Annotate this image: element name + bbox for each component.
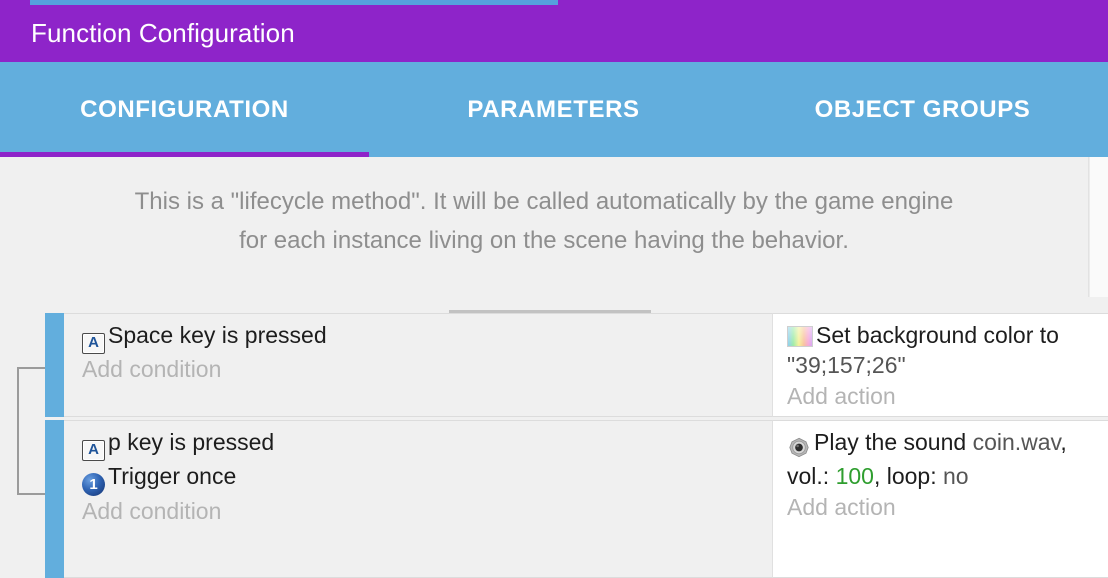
description-scrollbar-gutter[interactable] — [1089, 157, 1108, 297]
action-value-color[interactable]: "39;157;26" — [787, 352, 906, 378]
condition-key: Space — [108, 322, 173, 348]
events-sheet: ASpace key is pressed Add condition Set … — [0, 297, 1108, 578]
add-condition-button[interactable]: Add condition — [82, 354, 772, 386]
function-configuration-dialog: Function Configuration CONFIGURATION PAR… — [0, 0, 1108, 578]
keyboard-key-icon: A — [82, 440, 105, 461]
color-swatch-icon — [787, 326, 813, 347]
lifecycle-description: This is a "lifecycle method". It will be… — [0, 157, 1089, 297]
condition-item[interactable]: ASpace key is pressed — [82, 320, 772, 354]
add-condition-button[interactable]: Add condition — [82, 496, 772, 528]
actions-cell[interactable]: Set background color to "39;157;26" Add … — [772, 313, 1089, 417]
condition-item[interactable]: 1Trigger once — [82, 461, 772, 496]
actions-scrollbar-gutter[interactable] — [1089, 420, 1108, 578]
action-value-sound-file[interactable]: coin.wav — [973, 429, 1061, 455]
action-value-loop[interactable]: no — [943, 463, 969, 489]
tab-parameters[interactable]: PARAMETERS — [369, 62, 738, 157]
condition-item[interactable]: Ap key is pressed — [82, 427, 772, 461]
action-text-loop-label: , loop: — [874, 463, 943, 489]
condition-suffix: key is pressed — [127, 429, 274, 455]
keyboard-key-icon: A — [82, 333, 105, 354]
event-row-gutter — [0, 313, 45, 417]
condition-key: p — [108, 429, 121, 455]
condition-suffix: Trigger once — [108, 463, 236, 489]
add-action-button[interactable]: Add action — [787, 381, 1081, 413]
dialog-title-bar: Function Configuration — [0, 5, 1108, 62]
tab-object-groups[interactable]: OBJECT GROUPS — [738, 62, 1107, 157]
event-row[interactable]: Ap key is pressed 1Trigger once Add cond… — [0, 420, 1108, 578]
tab-parameters-label: PARAMETERS — [467, 96, 639, 124]
action-value-volume[interactable]: 100 — [836, 463, 874, 489]
action-item[interactable]: Set background color to "39;157;26" — [787, 320, 1081, 381]
actions-cell[interactable]: Play the sound coin.wav, vol.: 100, loop… — [772, 420, 1089, 578]
conditions-cell[interactable]: ASpace key is pressed Add condition — [64, 313, 772, 417]
tab-configuration[interactable]: CONFIGURATION — [0, 62, 369, 157]
event-row-tag[interactable] — [45, 313, 64, 417]
action-text-set-background: Set background color to — [816, 322, 1059, 348]
tab-configuration-label: CONFIGURATION — [80, 96, 289, 124]
event-row-gutter — [0, 420, 45, 578]
condition-suffix: key is pressed — [180, 322, 327, 348]
actions-scrollbar-gutter[interactable] — [1089, 313, 1108, 417]
progress-bar-fill — [30, 0, 558, 5]
event-row[interactable]: ASpace key is pressed Add condition Set … — [0, 313, 1108, 417]
action-text-play-sound: Play the sound — [814, 429, 973, 455]
tab-bar: CONFIGURATION PARAMETERS OBJECT GROUPS — [0, 62, 1108, 157]
event-row-tag[interactable] — [45, 420, 64, 578]
trigger-once-badge-icon: 1 — [82, 473, 105, 496]
dialog-title: Function Configuration — [0, 18, 295, 49]
description-line-2: for each instance living on the scene ha… — [60, 222, 1028, 261]
conditions-cell[interactable]: Ap key is pressed 1Trigger once Add cond… — [64, 420, 772, 578]
tab-object-groups-label: OBJECT GROUPS — [815, 96, 1031, 124]
action-item[interactable]: Play the sound coin.wav, vol.: 100, loop… — [787, 427, 1081, 492]
description-line-1: This is a "lifecycle method". It will be… — [60, 183, 1028, 222]
progress-bar-track — [0, 0, 1108, 5]
speaker-icon — [787, 431, 811, 461]
add-action-button[interactable]: Add action — [787, 492, 1081, 524]
